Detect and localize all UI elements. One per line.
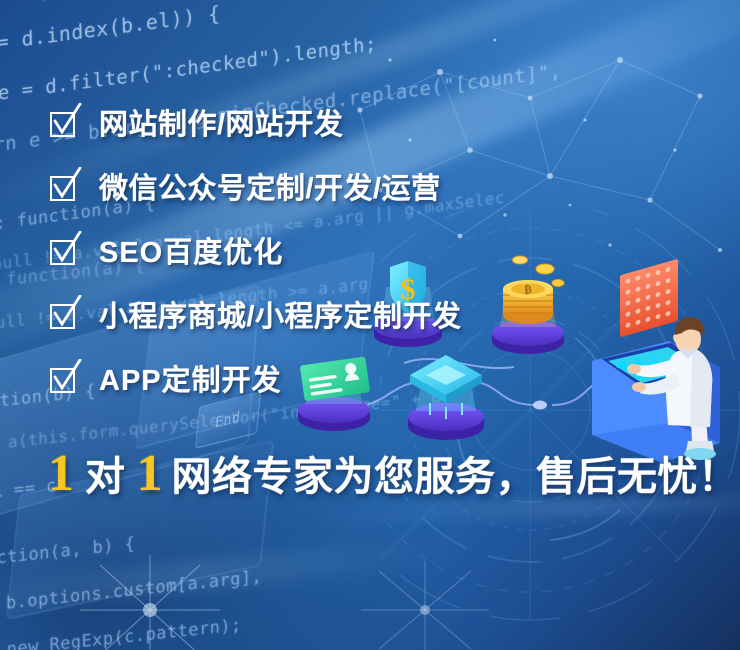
promo-banner: End .querySelectorAll("input[type=checkb…	[0, 0, 740, 650]
headline-number-first: 1	[48, 448, 74, 500]
checklist-item-4[interactable]: APP定制开发	[50, 356, 690, 400]
checklist-item-3[interactable]: 小程序商城/小程序定制开发	[50, 292, 690, 336]
lens-flare	[345, 555, 505, 650]
checklist-item-label: 网站制作/网站开发	[99, 101, 344, 143]
code-line: = new RegExp(c.pattern);	[0, 615, 242, 650]
checklist-item-label: APP定制开发	[99, 357, 282, 399]
service-checklist: 网站制作/网站开发 微信公众号定制/开发/运营 SEO百度优化	[50, 100, 690, 420]
checkbox-checked-icon[interactable]	[50, 237, 77, 264]
checklist-item-label: SEO百度优化	[99, 229, 283, 271]
checklist-item-0[interactable]: 网站制作/网站开发	[50, 100, 690, 144]
checkbox-checked-icon[interactable]	[50, 365, 77, 392]
checkbox-checked-icon[interactable]	[50, 173, 77, 200]
checklist-item-1[interactable]: 微信公众号定制/开发/运营	[50, 164, 690, 208]
headline-tail-text: 网络专家为您服务，售后无忧！	[172, 457, 739, 497]
checklist-item-2[interactable]: SEO百度优化	[50, 228, 690, 272]
checkbox-checked-icon[interactable]	[50, 301, 77, 328]
headline-slogan: 1 对 1 网络专家为您服务，售后无忧！	[48, 448, 739, 500]
code-line: e = d.filter(":checked").length;	[0, 33, 377, 105]
checklist-item-label: 小程序商城/小程序定制开发	[99, 293, 462, 335]
code-line: .querySelectorAll("input[type=checkbox]"…	[27, 0, 424, 4]
checklist-item-label: 微信公众号定制/开发/运营	[99, 165, 441, 207]
code-line: = d.index(b.el)) {	[0, 1, 221, 55]
headline-middle-word: 对	[85, 457, 126, 497]
checkbox-checked-icon[interactable]	[50, 109, 77, 136]
headline-number-second: 1	[137, 448, 163, 500]
